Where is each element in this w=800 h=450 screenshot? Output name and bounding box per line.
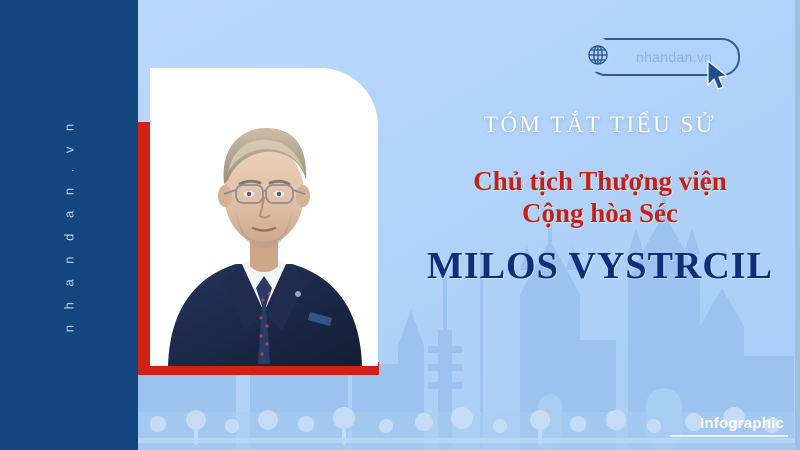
headline-block: TÓM TẮT TIỂU SỬ Chủ tịch Thượng viện Cộn…	[405, 112, 795, 288]
sidebar-brand-label: n h a n d a n . v n	[62, 118, 77, 332]
infographic-underline	[670, 435, 788, 437]
site-url-label: nhandan.vn	[636, 49, 712, 65]
right-edge-strip	[795, 0, 800, 450]
portrait-photo-card	[150, 68, 378, 366]
globe-icon	[581, 38, 615, 72]
role-line-1: Chủ tịch Thượng viện	[405, 166, 795, 198]
infographic-label: Infographic	[700, 415, 784, 432]
person-name: MILOS VYSTRCIL	[405, 244, 795, 288]
infographic-canvas: n h a n d a n . v n	[0, 0, 800, 450]
cursor-arrow-icon	[706, 60, 732, 92]
kicker-text: TÓM TẮT TIỂU SỬ	[405, 112, 795, 138]
left-sidebar: n h a n d a n . v n	[0, 0, 138, 450]
role-line-2: Cộng hòa Séc	[405, 198, 795, 230]
